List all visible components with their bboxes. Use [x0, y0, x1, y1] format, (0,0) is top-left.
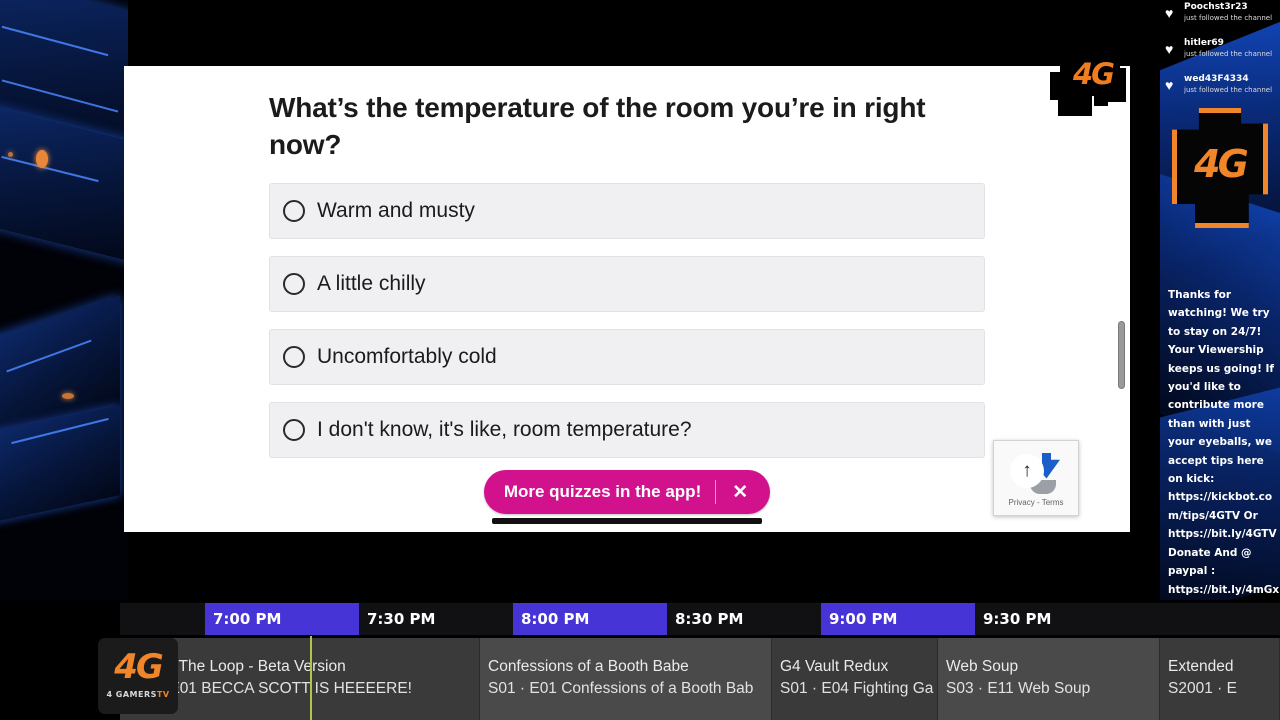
stream-thanks-message: Thanks for watching! We try to stay on 2…: [1168, 286, 1280, 617]
quiz-option-3[interactable]: I don't know, it's like, room temperatur…: [269, 402, 985, 458]
time-slot[interactable]: 7:30 PM: [359, 603, 513, 635]
radio-button-icon[interactable]: [283, 200, 305, 222]
heart-icon: ♥: [1165, 78, 1179, 92]
follower-action: just followed the channel: [1184, 49, 1280, 59]
channel-4g-badge: 4G: [1172, 108, 1268, 228]
program-cell[interactable]: Confessions of a Booth Babe S01 · E01 Co…: [480, 638, 772, 720]
time-slot[interactable]: 8:00 PM: [513, 603, 667, 635]
quiz-option-1[interactable]: A little chilly: [269, 256, 985, 312]
quiz-option-2[interactable]: Uncomfortably cold: [269, 329, 985, 385]
recaptcha-logo-icon: ↑: [1010, 450, 1062, 496]
program-subtitle: S01 · E01 Confessions of a Booth Bab: [488, 680, 771, 698]
channel-4g-badge-text: 4G: [1172, 136, 1268, 192]
promo-underbar: [492, 518, 762, 524]
logo-block: [1058, 92, 1092, 116]
quiz-card-content: What’s the temperature of the room you’r…: [124, 66, 1130, 532]
program-title: AOTS! The Loop - Beta Version: [128, 658, 479, 676]
follower-username: hitler69: [1184, 37, 1280, 49]
corner-4g-logo: 4G: [1050, 52, 1126, 124]
screen: What’s the temperature of the room you’r…: [0, 0, 1280, 720]
quiz-option-0[interactable]: Warm and musty: [269, 183, 985, 239]
channel-logo-sub-right: TV: [157, 690, 170, 699]
close-icon[interactable]: ✕: [716, 481, 764, 504]
time-slot[interactable]: 9:00 PM: [821, 603, 975, 635]
background-left-panels: [0, 0, 128, 600]
quiz-options-list: Warm and musty A little chilly Uncomfort…: [269, 183, 985, 475]
bg-ember: [8, 152, 13, 157]
channel-logo-text: 4G: [98, 644, 178, 690]
program-subtitle: S01 · E04 Fighting Ga: [780, 680, 937, 698]
channel-logo[interactable]: 4G 4 GAMERSTV: [98, 638, 178, 714]
follower-action: just followed the channel: [1184, 13, 1280, 23]
follower-alert: ♥ wed43F4334 just followed the channel: [1160, 72, 1280, 108]
program-subtitle: S03 · E11 Web Soup: [946, 680, 1159, 698]
radio-button-icon[interactable]: [283, 346, 305, 368]
quiz-option-label: Warm and musty: [317, 199, 475, 223]
current-time-indicator: [310, 636, 312, 720]
program-cell[interactable]: Extended S2001 · E: [1160, 638, 1280, 720]
quiz-option-label: Uncomfortably cold: [317, 345, 497, 369]
program-title: Confessions of a Booth Babe: [488, 658, 771, 676]
heart-icon: ♥: [1165, 42, 1179, 56]
recaptcha-badge[interactable]: ↑ Privacy - Terms: [993, 440, 1079, 516]
quiz-option-label: A little chilly: [317, 272, 426, 296]
heart-icon: ♥: [1165, 6, 1179, 20]
bg-ember: [36, 150, 48, 168]
program-title: Web Soup: [946, 658, 1159, 676]
recaptcha-arrow-up-icon: ↑: [1010, 454, 1044, 488]
follower-username: Poochst3r23: [1184, 1, 1280, 13]
channel-logo-sub-left: 4 GAMERS: [106, 690, 156, 699]
program-cell[interactable]: G4 Vault Redux S01 · E04 Fighting Ga: [772, 638, 938, 720]
program-subtitle: S2001 · E: [1168, 680, 1279, 698]
corner-4g-logo-text: 4G: [1064, 54, 1122, 94]
radio-button-icon[interactable]: [283, 419, 305, 441]
time-slot[interactable]: 7:00 PM: [205, 603, 359, 635]
tv-guide-timebar: 7:00 PM 7:30 PM 8:00 PM 8:30 PM 9:00 PM …: [120, 603, 1280, 635]
logo-block: [1094, 92, 1108, 106]
time-slot[interactable]: 8:30 PM: [667, 603, 821, 635]
radio-button-icon[interactable]: [283, 273, 305, 295]
program-title: G4 Vault Redux: [780, 658, 937, 676]
follower-alert: ♥ Poochst3r23 just followed the channel: [1160, 0, 1280, 36]
app-promo-banner: More quizzes in the app! ✕: [484, 470, 770, 524]
time-slot[interactable]: 9:30 PM: [975, 603, 1125, 635]
follower-action: just followed the channel: [1184, 85, 1280, 95]
more-quizzes-label: More quizzes in the app!: [490, 482, 715, 502]
card-scrollbar[interactable]: [1118, 321, 1125, 389]
follower-alert: ♥ hitler69 just followed the channel: [1160, 36, 1280, 72]
program-cell[interactable]: Web Soup S03 · E11 Web Soup: [938, 638, 1160, 720]
channel-logo-subtitle: 4 GAMERSTV: [98, 690, 178, 699]
program-subtitle: S01 · E01 BECCA SCOTT IS HEEEERE!: [128, 680, 479, 698]
follower-username: wed43F4334: [1184, 73, 1280, 85]
tv-guide: 7:00 PM 7:30 PM 8:00 PM 8:30 PM 9:00 PM …: [0, 600, 1280, 720]
program-title: Extended: [1168, 658, 1279, 676]
stream-overlay-sidebar: ♥ Poochst3r23 just followed the channel …: [1160, 0, 1280, 600]
bg-ember: [62, 393, 74, 399]
quiz-card: What’s the temperature of the room you’r…: [124, 66, 1130, 532]
tv-guide-grid: 7:00 PM 7:30 PM 8:00 PM 8:30 PM 9:00 PM …: [120, 600, 1280, 720]
quiz-question: What’s the temperature of the room you’r…: [269, 90, 959, 164]
quiz-option-label: I don't know, it's like, room temperatur…: [317, 418, 692, 442]
recaptcha-privacy-terms[interactable]: Privacy - Terms: [1009, 498, 1064, 507]
more-quizzes-button[interactable]: More quizzes in the app! ✕: [484, 470, 770, 514]
follower-alerts-list: ♥ Poochst3r23 just followed the channel …: [1160, 0, 1280, 108]
